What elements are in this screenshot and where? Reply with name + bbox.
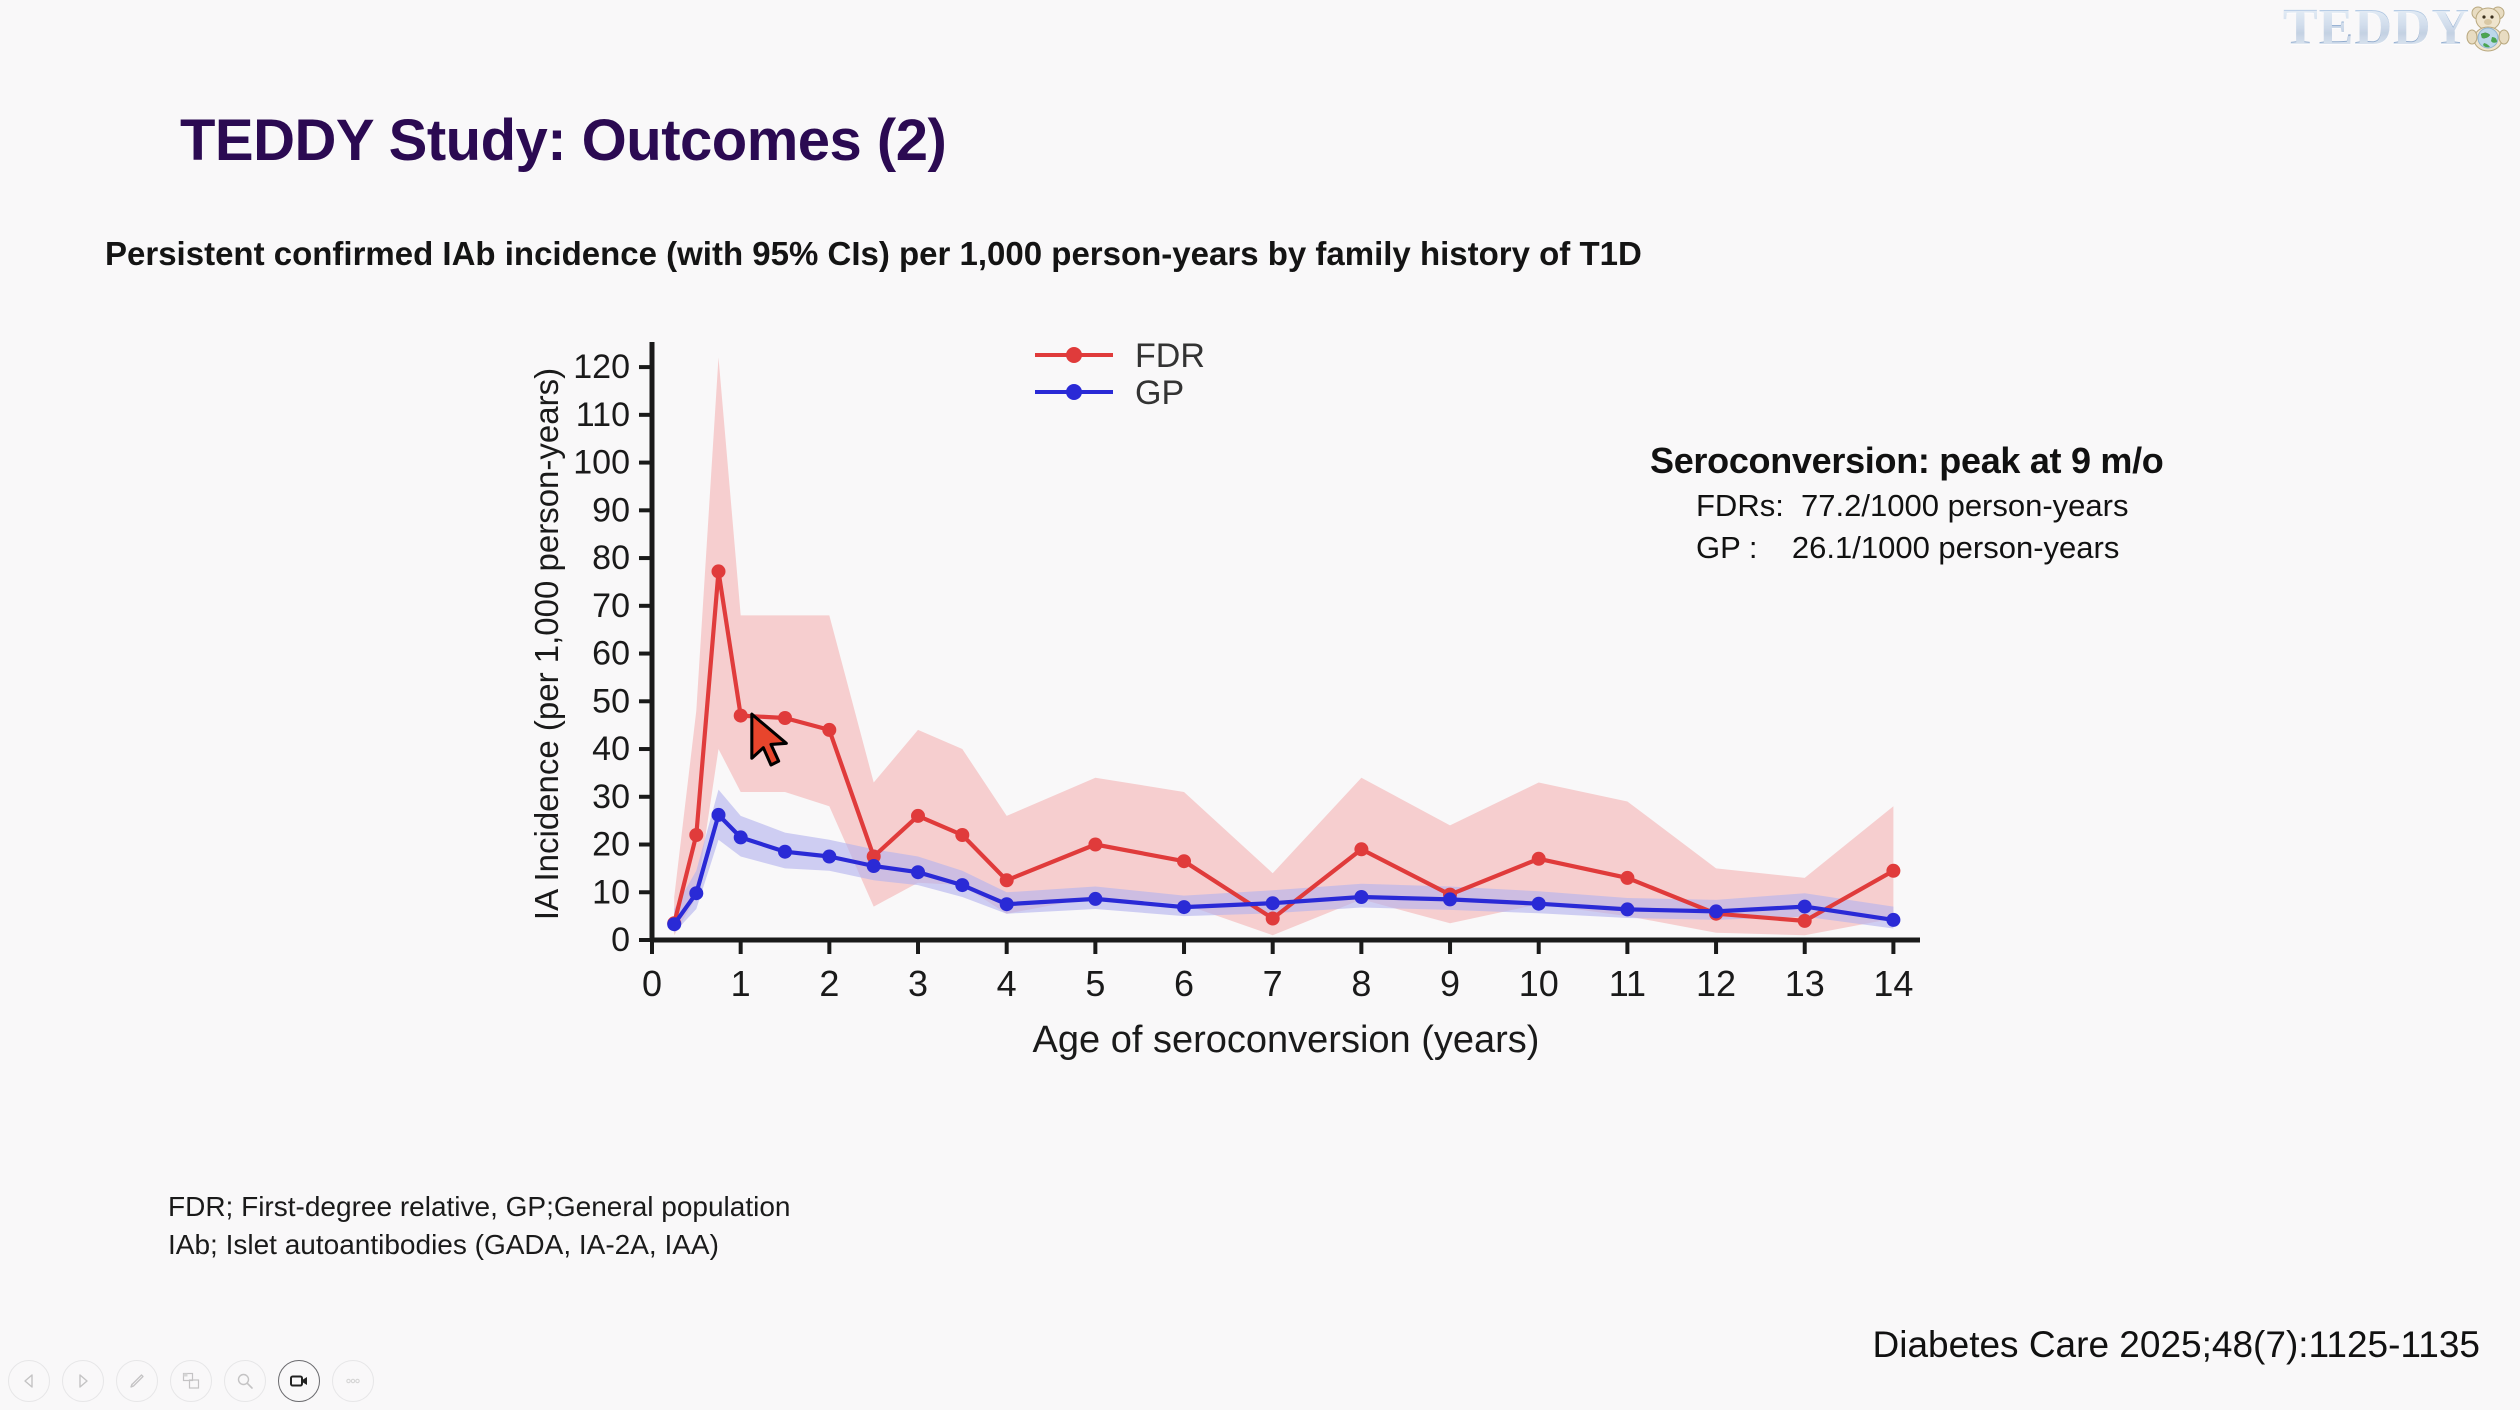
zoom-button[interactable]: [224, 1360, 266, 1402]
marker-gp: [689, 886, 703, 900]
y-tick-label: 60: [592, 635, 630, 673]
x-tick-label: 14: [1873, 963, 1913, 1004]
marker-fdr: [734, 709, 748, 723]
video-camera-icon: [288, 1370, 310, 1392]
abbreviations-footnote: FDR; First-degree relative, GP;General p…: [168, 1188, 791, 1264]
chart-figure: 0102030405060708090100110120012345678910…: [520, 320, 1940, 1110]
magnifier-icon: [235, 1371, 255, 1391]
x-tick-label: 4: [997, 963, 1017, 1004]
marker-fdr: [1798, 914, 1812, 928]
legend-swatch-marker-gp: [1066, 384, 1082, 400]
x-tick-label: 8: [1351, 963, 1371, 1004]
y-tick-label: 50: [592, 682, 630, 720]
x-tick-label: 2: [819, 963, 839, 1004]
more-options-button[interactable]: [332, 1360, 374, 1402]
marker-fdr: [1532, 852, 1546, 866]
marker-gp: [1709, 904, 1723, 918]
slide-canvas: TEDDY TEDDY Study: Outcomes (2) Persist: [0, 0, 2520, 1410]
legend-swatch-marker-fdr: [1066, 347, 1082, 363]
x-tick-label: 13: [1785, 963, 1825, 1004]
y-tick-label: 30: [592, 778, 630, 816]
camera-button[interactable]: [278, 1360, 320, 1402]
marker-fdr: [955, 828, 969, 842]
y-tick-label: 0: [611, 921, 630, 959]
marker-gp: [955, 878, 969, 892]
slide-subtitle: Persistent confirmed IAb incidence (with…: [105, 235, 1642, 273]
teddy-logo: TEDDY: [2283, 2, 2510, 54]
presentation-toolbar[interactable]: [8, 1360, 374, 1402]
callout-heading: Seroconversion: peak at 9 m/o: [1650, 440, 2163, 482]
y-axis-title: IA Incidence (per 1,000 person-years): [528, 368, 565, 920]
pen-tool-button[interactable]: [116, 1360, 158, 1402]
marker-gp: [712, 808, 726, 822]
y-tick-label: 80: [592, 539, 630, 577]
incidence-line-chart: 0102030405060708090100110120012345678910…: [520, 320, 1940, 1110]
x-axis-title: Age of seroconversion (years): [1033, 1019, 1540, 1061]
marker-gp: [734, 830, 748, 844]
y-tick-label: 90: [592, 491, 630, 529]
legend-label-fdr: FDR: [1135, 337, 1205, 375]
marker-gp: [1000, 897, 1014, 911]
marker-fdr: [1886, 864, 1900, 878]
x-tick-label: 1: [731, 963, 751, 1004]
marker-gp: [1886, 913, 1900, 927]
footnote-line-2: IAb; Islet autoantibodies (GADA, IA-2A, …: [168, 1226, 791, 1264]
x-tick-label: 6: [1174, 963, 1194, 1004]
next-slide-button[interactable]: [62, 1360, 104, 1402]
marker-fdr: [1620, 871, 1634, 885]
y-tick-label: 100: [573, 444, 630, 482]
marker-gp: [911, 865, 925, 879]
marker-gp: [867, 859, 881, 873]
footnote-line-1: FDR; First-degree relative, GP;General p…: [168, 1188, 791, 1226]
x-tick-label: 10: [1519, 963, 1559, 1004]
marker-gp: [1798, 900, 1812, 914]
x-tick-label: 0: [642, 963, 662, 1004]
marker-fdr: [1088, 838, 1102, 852]
marker-gp: [1177, 900, 1191, 914]
teddy-bear-with-globe-icon: [2466, 4, 2510, 52]
x-tick-label: 12: [1696, 963, 1736, 1004]
marker-fdr: [778, 711, 792, 725]
y-tick-label: 40: [592, 730, 630, 768]
chart-legend: FDRGP: [1035, 337, 1205, 412]
marker-gp: [778, 845, 792, 859]
marker-fdr: [911, 809, 925, 823]
marker-fdr: [822, 723, 836, 737]
ellipsis-icon: [343, 1371, 363, 1391]
legend-label-gp: GP: [1135, 374, 1184, 412]
previous-slide-button[interactable]: [8, 1360, 50, 1402]
page-title: TEDDY Study: Outcomes (2): [180, 107, 946, 174]
y-tick-label: 70: [592, 587, 630, 625]
triangle-right-icon: [74, 1372, 92, 1390]
marker-gp: [1354, 890, 1368, 904]
y-tick-label: 20: [592, 826, 630, 864]
pen-icon: [127, 1371, 147, 1391]
marker-gp: [1443, 892, 1457, 906]
marker-gp: [667, 917, 681, 931]
y-tick-label: 10: [592, 873, 630, 911]
marker-gp: [1620, 902, 1634, 916]
source-citation: Diabetes Care 2025;48(7):1125-1135: [1873, 1324, 2480, 1366]
slide-grid-icon: [181, 1371, 201, 1391]
y-tick-label: 120: [573, 348, 630, 386]
marker-gp: [1266, 896, 1280, 910]
callout-fdr-rate: FDRs: 77.2/1000 person-years: [1696, 488, 2163, 524]
y-tick-label: 110: [576, 396, 630, 434]
marker-fdr: [1266, 912, 1280, 926]
callout-gp-rate: GP : 26.1/1000 person-years: [1696, 530, 2163, 566]
seroconversion-callout: Seroconversion: peak at 9 m/o FDRs: 77.2…: [1650, 440, 2163, 566]
all-slides-button[interactable]: [170, 1360, 212, 1402]
marker-gp: [1532, 897, 1546, 911]
marker-gp: [1088, 892, 1102, 906]
marker-gp: [822, 850, 836, 864]
triangle-left-icon: [20, 1372, 38, 1390]
chart-axis-titles: IA Incidence (per 1,000 person-years)Age…: [528, 368, 1539, 1061]
teddy-logo-wordmark: TEDDY: [2283, 2, 2470, 54]
x-tick-label: 5: [1085, 963, 1105, 1004]
marker-fdr: [712, 564, 726, 578]
x-tick-label: 9: [1440, 963, 1460, 1004]
marker-fdr: [1177, 854, 1191, 868]
x-tick-label: 3: [908, 963, 928, 1004]
x-tick-label: 7: [1263, 963, 1283, 1004]
marker-fdr: [1000, 873, 1014, 887]
x-tick-label: 11: [1609, 963, 1646, 1004]
marker-fdr: [1354, 842, 1368, 856]
marker-fdr: [689, 828, 703, 842]
